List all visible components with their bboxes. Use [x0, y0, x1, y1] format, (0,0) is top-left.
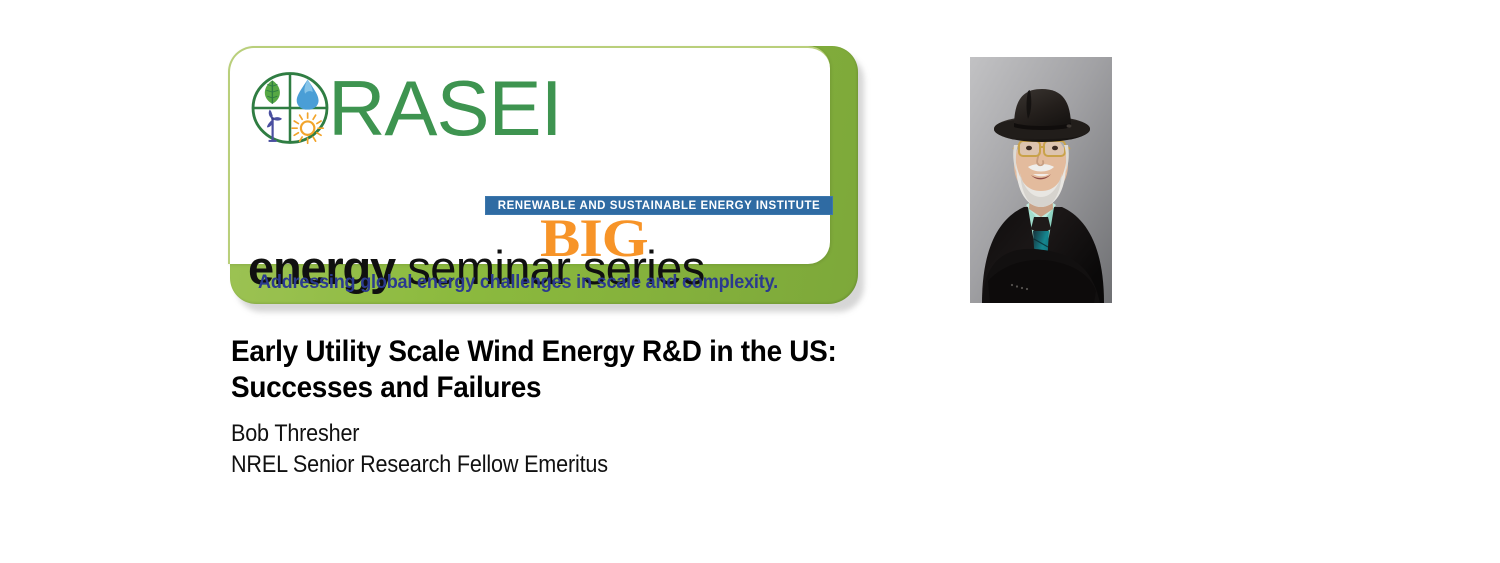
rasei-wordmark: RASEI — [328, 69, 562, 147]
logo-card-white-panel: RASEI RENEWABLE AND SUSTAINABLE ENERGY I… — [228, 46, 830, 264]
rasei-lockup: RASEI — [248, 66, 557, 150]
speaker-role: NREL Senior Research Fellow Emeritus — [231, 449, 1041, 480]
logo-tagline-band: Addressing global energy challenges in s… — [230, 262, 830, 304]
institute-name-bar: RENEWABLE AND SUSTAINABLE ENERGY INSTITU… — [485, 196, 833, 215]
speaker-name: Bob Thresher — [231, 418, 1041, 449]
rasei-seminar-logo-card: RASEI RENEWABLE AND SUSTAINABLE ENERGY I… — [230, 46, 858, 304]
logo-tagline-text: Addressing global energy challenges in s… — [258, 272, 778, 294]
rasei-quadrant-emblem — [248, 66, 332, 150]
portrait-illustration — [970, 57, 1112, 303]
speaker-portrait-photo — [970, 57, 1112, 303]
talk-title-line-1: Early Utility Scale Wind Energy R&D in t… — [231, 334, 1068, 370]
talk-title-line-2: Successes and Failures — [231, 370, 1068, 406]
talk-text-block: Early Utility Scale Wind Energy R&D in t… — [231, 334, 1131, 480]
